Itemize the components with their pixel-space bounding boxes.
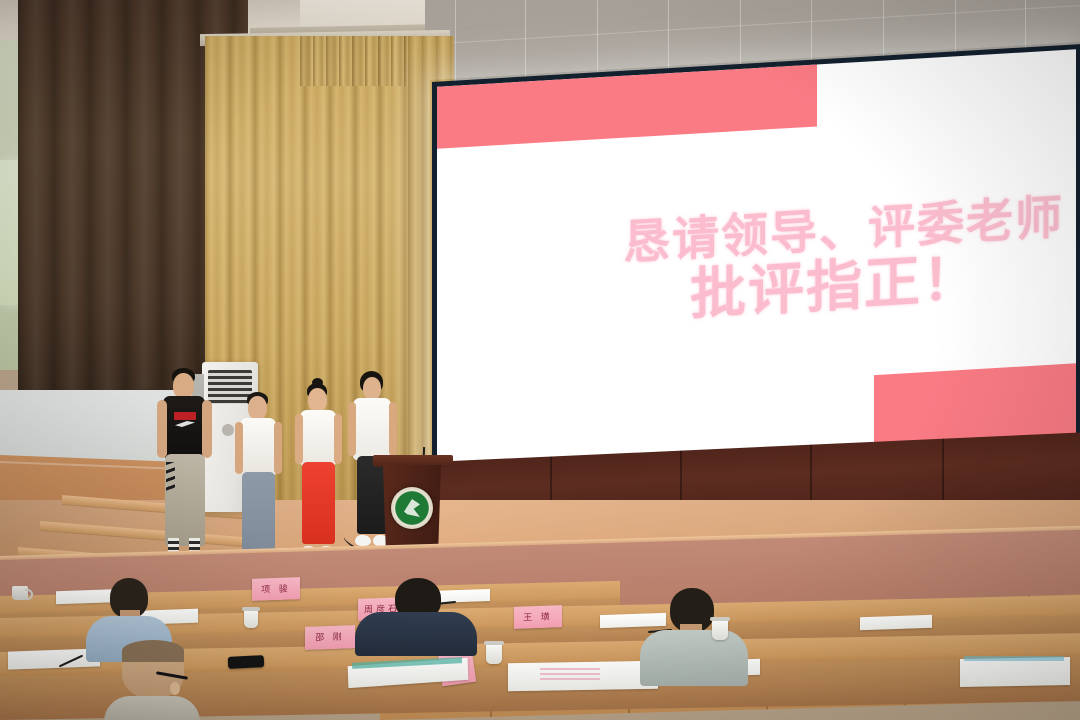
attendee-3 — [104, 640, 200, 720]
presenter-3 — [293, 383, 345, 568]
attendee-4-shirt — [640, 630, 748, 686]
namecard-label: 项 骏 — [252, 581, 300, 597]
presenter-2-arm-left — [235, 422, 243, 474]
presenter-2-shirt — [240, 418, 276, 476]
paper-cup-row2 — [244, 610, 258, 628]
presenter-3-shirt — [300, 410, 336, 466]
attendee-3-ear — [170, 682, 180, 695]
attendee-3-hair — [122, 640, 184, 662]
presenter-4-shirt — [353, 398, 391, 460]
attendee-2 — [355, 578, 477, 650]
attendee-3-shoulders — [104, 696, 200, 720]
namecard-shao-gang[interactable]: 邵 刚 — [305, 625, 355, 650]
presenter-2-head — [248, 396, 267, 420]
paper-row3-e-edge — [964, 656, 1064, 661]
presenter-1-shirt-logo — [174, 412, 196, 420]
paper-cup-row3[interactable] — [486, 644, 502, 664]
namecard-label: 王 璜 — [514, 609, 562, 625]
paper-cup-attendee-4[interactable] — [712, 620, 728, 640]
presenter-1-arm-left — [157, 400, 167, 458]
namecard-xiang-jun[interactable]: 项 骏 — [252, 577, 300, 601]
namecard-wang-huang[interactable]: 王 璜 — [514, 605, 562, 629]
projection-screen-frame: 恳请领导、评委老师 批评指正！ — [432, 44, 1080, 482]
paper-row3-e — [960, 657, 1070, 687]
presenter-2-jeans — [242, 472, 275, 552]
namecard-label: 邵 刚 — [305, 629, 355, 645]
presenter-2-arm-right — [274, 422, 282, 474]
attendee-4 — [640, 588, 748, 684]
presenter-3-hair-bun — [312, 378, 323, 387]
tea-mug-row1 — [12, 586, 28, 600]
presenter-3-arm-right — [334, 414, 342, 464]
presenter-4-head — [363, 377, 381, 400]
mobile-phone-row3[interactable] — [228, 655, 265, 669]
presenter-1-pants-stripe — [166, 462, 175, 492]
presenter-3-head — [308, 388, 327, 412]
attendee-2-shirt — [355, 612, 477, 656]
projection-screen: 恳请领导、评委老师 批评指正！ — [437, 49, 1076, 476]
presenter-4-arm-left — [348, 402, 356, 456]
presenter-3-arm-left — [295, 414, 303, 464]
paper-row3-c-marking — [540, 668, 600, 680]
university-crest-emblem — [391, 487, 433, 529]
presenter-4-arm-right — [389, 402, 397, 456]
presenter-1-shirt — [163, 396, 205, 458]
presenter-3-red-pants — [302, 462, 335, 544]
presenter-1-arm-right — [202, 400, 212, 458]
paper-row2-c — [860, 615, 932, 631]
slide-text-container: 恳请领导、评委老师 批评指正！ — [437, 192, 1066, 340]
auditorium-photo-scene: 恳请领导、评委老师 批评指正！ — [0, 0, 1080, 720]
